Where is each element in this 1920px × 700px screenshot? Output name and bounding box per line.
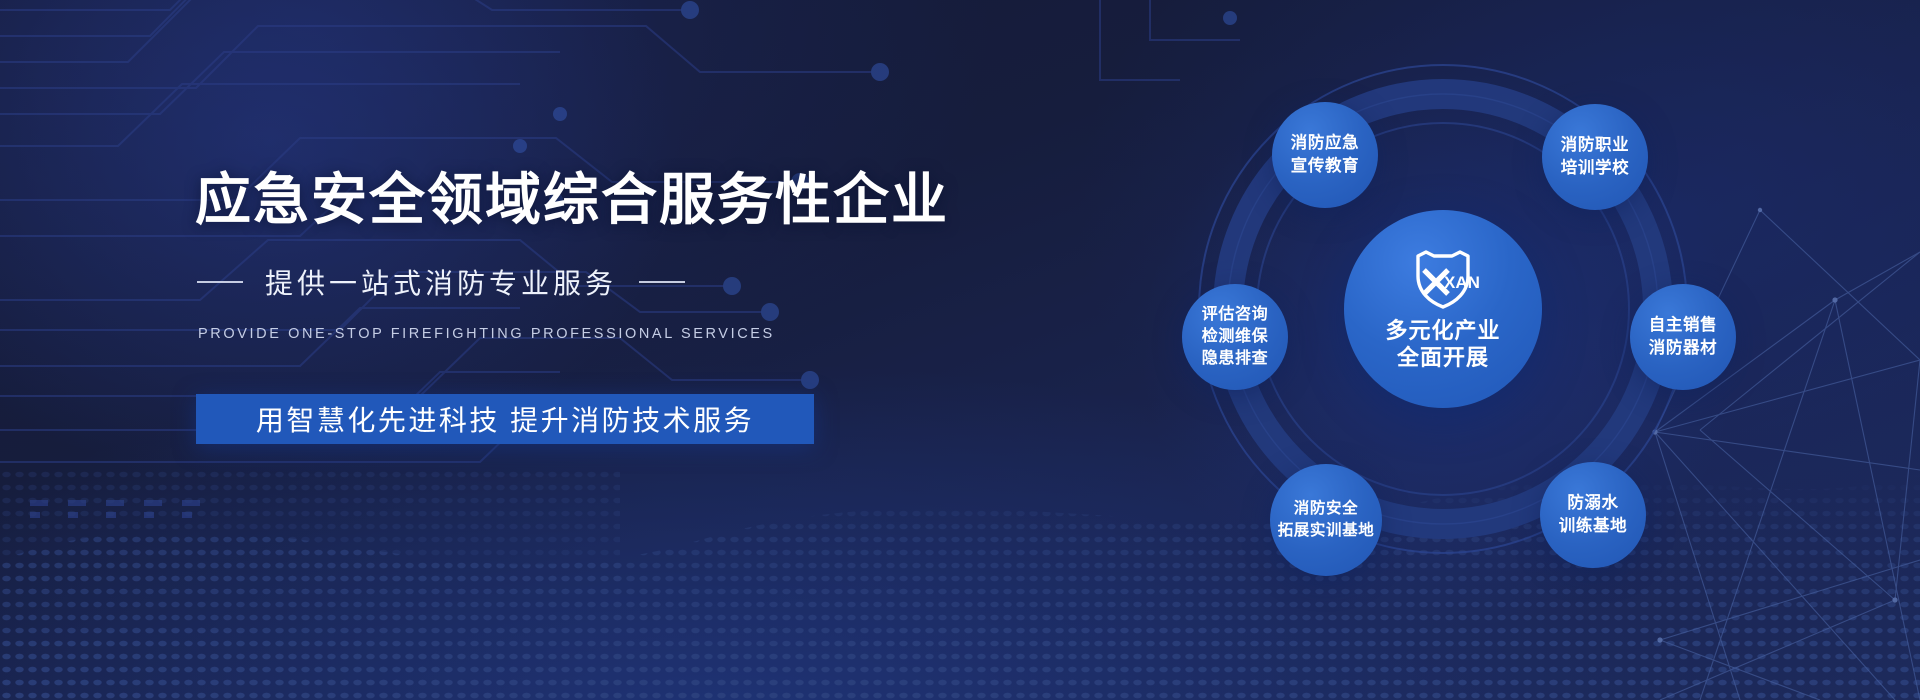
- service-node-fire-vocational-school[interactable]: 消防职业 培训学校: [1542, 104, 1648, 210]
- node-line-1: 消防职业: [1561, 134, 1629, 157]
- service-node-assessment-inspection[interactable]: 评估咨询 检测维保 隐患排查: [1182, 284, 1288, 390]
- node-line-1: 评估咨询: [1202, 304, 1268, 326]
- node-line-1: 消防安全: [1294, 498, 1358, 520]
- subtitle-row: 提供一站式消防专业服务: [197, 262, 915, 302]
- cta-button-label: 用智慧化先进科技 提升消防技术服务: [256, 399, 754, 439]
- node-line-2: 宣传教育: [1291, 155, 1359, 178]
- service-node-safety-training-base[interactable]: 消防安全 拓展实训基地: [1270, 464, 1382, 576]
- rule-left-icon: [197, 281, 243, 283]
- rule-right-icon: [639, 281, 685, 283]
- center-node[interactable]: XAN 多元化产业 全面开展: [1344, 210, 1542, 408]
- hero-text-block: 应急安全领域综合服务性企业 提供一站式消防专业服务 PROVIDE ONE-ST…: [195, 168, 915, 444]
- node-line-2: 消防器材: [1649, 337, 1717, 360]
- service-node-equipment-sales[interactable]: 自主销售 消防器材: [1630, 284, 1736, 390]
- page-subtitle: 提供一站式消防专业服务: [265, 262, 617, 302]
- node-line-1: 消防应急: [1291, 132, 1359, 155]
- shield-icon: XAN: [1404, 246, 1482, 312]
- center-node-label: 多元化产业 全面开展: [1385, 318, 1500, 372]
- cta-button[interactable]: 用智慧化先进科技 提升消防技术服务: [196, 394, 814, 444]
- service-node-anti-drowning-base[interactable]: 防溺水 训练基地: [1540, 462, 1646, 568]
- node-line-1: 自主销售: [1649, 314, 1717, 337]
- node-line-1: 防溺水: [1567, 492, 1618, 515]
- node-line-2: 训练基地: [1559, 515, 1627, 538]
- logo-wordmark: XAN: [1444, 273, 1480, 292]
- node-line-2: 检测维保: [1202, 326, 1268, 348]
- services-orbit-diagram: XAN 多元化产业 全面开展 消防应急 宣传教育 消防职业 培训学校 自主销售 …: [1120, 62, 1780, 622]
- node-line-3: 隐患排查: [1202, 348, 1268, 370]
- page-title: 应急安全领域综合服务性企业: [195, 168, 915, 232]
- hero-banner: 应急安全领域综合服务性企业 提供一站式消防专业服务 PROVIDE ONE-ST…: [0, 0, 1920, 700]
- center-line-1: 多元化产业: [1385, 318, 1500, 345]
- english-tagline: PROVIDE ONE-STOP FIREFIGHTING PROFESSION…: [198, 326, 915, 342]
- service-node-fire-emergency-education[interactable]: 消防应急 宣传教育: [1272, 102, 1378, 208]
- center-line-2: 全面开展: [1385, 345, 1500, 372]
- node-line-2: 培训学校: [1561, 157, 1629, 180]
- node-line-2: 拓展实训基地: [1278, 520, 1375, 542]
